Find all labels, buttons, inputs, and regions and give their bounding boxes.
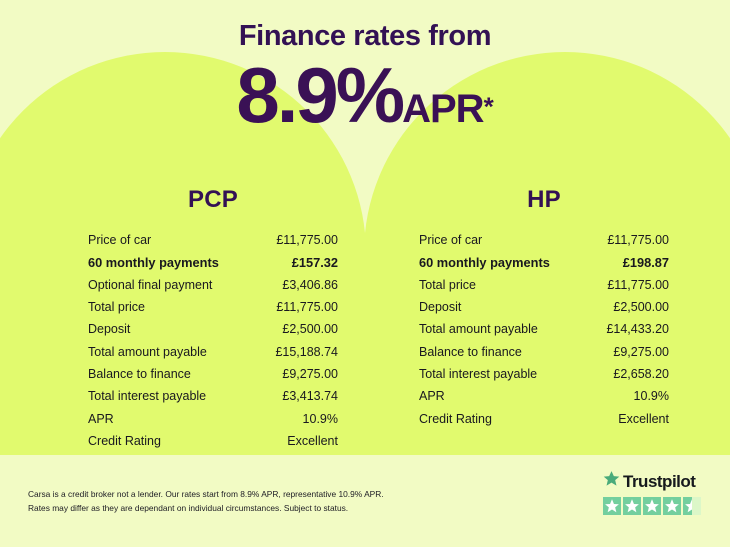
- row-label: Total interest payable: [88, 385, 257, 407]
- table-row: Balance to finance £9,275.00: [419, 340, 669, 362]
- row-value: 10.9%: [588, 385, 669, 407]
- table-row: Credit Rating Excellent: [88, 430, 338, 452]
- row-label: Price of car: [419, 229, 588, 251]
- trustpilot-star-filled: [663, 497, 681, 515]
- trustpilot-star-half: [683, 497, 701, 515]
- row-value: £11,775.00: [257, 296, 338, 318]
- row-label: Deposit: [419, 296, 588, 318]
- rate-headline: 8.9%APR*: [0, 56, 730, 134]
- table-row: APR 10.9%: [419, 385, 669, 407]
- table-row: Deposit £2,500.00: [419, 296, 669, 318]
- row-value: £11,775.00: [588, 274, 669, 296]
- row-value: £157.32: [257, 251, 338, 273]
- trustpilot-star-filled: [643, 497, 661, 515]
- row-value: £9,275.00: [588, 340, 669, 362]
- table-row: Total price £11,775.00: [419, 274, 669, 296]
- table-row: Optional final payment £3,406.86: [88, 274, 338, 296]
- row-label: Total price: [88, 296, 257, 318]
- row-label: Credit Rating: [88, 430, 257, 452]
- row-label: 60 monthly payments: [419, 251, 588, 273]
- table-row: Credit Rating Excellent: [419, 407, 669, 429]
- page-title: Finance rates from: [0, 20, 730, 53]
- rate-value: 8.9%: [236, 51, 402, 139]
- table-row: Total price £11,775.00: [88, 296, 338, 318]
- row-value: £14,433.20: [588, 318, 669, 340]
- plan-hp: HP Price of car £11,775.00 60 monthly pa…: [419, 186, 669, 430]
- trustpilot-star-icon: [603, 470, 620, 492]
- trustpilot-wordmark: Trustpilot: [623, 473, 695, 490]
- row-label: Price of car: [88, 229, 257, 251]
- row-value: £2,500.00: [588, 296, 669, 318]
- row-value: Excellent: [588, 407, 669, 429]
- plan-pcp: PCP Price of car £11,775.00 60 monthly p…: [88, 186, 338, 452]
- row-value: £2,500.00: [257, 318, 338, 340]
- row-value: £15,188.74: [257, 340, 338, 362]
- table-row: APR 10.9%: [88, 407, 338, 429]
- table-row: Total interest payable £2,658.20: [419, 363, 669, 385]
- plan-pcp-title: PCP: [88, 186, 338, 214]
- disclaimer: Carsa is a credit broker not a lender. O…: [28, 488, 458, 515]
- row-label: Total interest payable: [419, 363, 588, 385]
- row-value: £2,658.20: [588, 363, 669, 385]
- row-label: 60 monthly payments: [88, 251, 257, 273]
- rate-unit: APR: [402, 87, 483, 131]
- plan-hp-title: HP: [419, 186, 669, 214]
- disclaimer-line-1: Carsa is a credit broker not a lender. O…: [28, 488, 458, 502]
- table-row: Deposit £2,500.00: [88, 318, 338, 340]
- row-value: 10.9%: [257, 407, 338, 429]
- table-row: Total amount payable £14,433.20: [419, 318, 669, 340]
- row-label: Deposit: [88, 318, 257, 340]
- trustpilot-stars: [603, 497, 707, 515]
- rate-asterisk: *: [484, 92, 494, 122]
- trustpilot-rating[interactable]: Trustpilot: [603, 470, 707, 515]
- disclaimer-line-2: Rates may differ as they are dependant o…: [28, 502, 458, 516]
- table-row: Price of car £11,775.00: [88, 229, 338, 251]
- table-row: Total amount payable £15,188.74: [88, 340, 338, 362]
- row-value: Excellent: [257, 430, 338, 452]
- row-label: Credit Rating: [419, 407, 588, 429]
- row-value: £198.87: [588, 251, 669, 273]
- table-row: 60 monthly payments £157.32: [88, 251, 338, 273]
- trustpilot-star-filled: [623, 497, 641, 515]
- row-value: £3,406.86: [257, 274, 338, 296]
- row-label: Total price: [419, 274, 588, 296]
- row-label: Total amount payable: [88, 340, 257, 362]
- row-label: Total amount payable: [419, 318, 588, 340]
- row-label: APR: [419, 385, 588, 407]
- plan-hp-table: Price of car £11,775.00 60 monthly payme…: [419, 229, 669, 430]
- row-value: £11,775.00: [588, 229, 669, 251]
- table-row: Balance to finance £9,275.00: [88, 363, 338, 385]
- row-value: £9,275.00: [257, 363, 338, 385]
- table-row: Price of car £11,775.00: [419, 229, 669, 251]
- row-label: APR: [88, 407, 257, 429]
- row-label: Balance to finance: [88, 363, 257, 385]
- trustpilot-star-filled: [603, 497, 621, 515]
- row-value: £3,413.74: [257, 385, 338, 407]
- finance-rates-promo: Finance rates from 8.9%APR* PCP Price of…: [0, 0, 730, 547]
- table-row: Total interest payable £3,413.74: [88, 385, 338, 407]
- plan-pcp-table: Price of car £11,775.00 60 monthly payme…: [88, 229, 338, 452]
- table-row: 60 monthly payments £198.87: [419, 251, 669, 273]
- row-label: Balance to finance: [419, 340, 588, 362]
- row-value: £11,775.00: [257, 229, 338, 251]
- row-label: Optional final payment: [88, 274, 257, 296]
